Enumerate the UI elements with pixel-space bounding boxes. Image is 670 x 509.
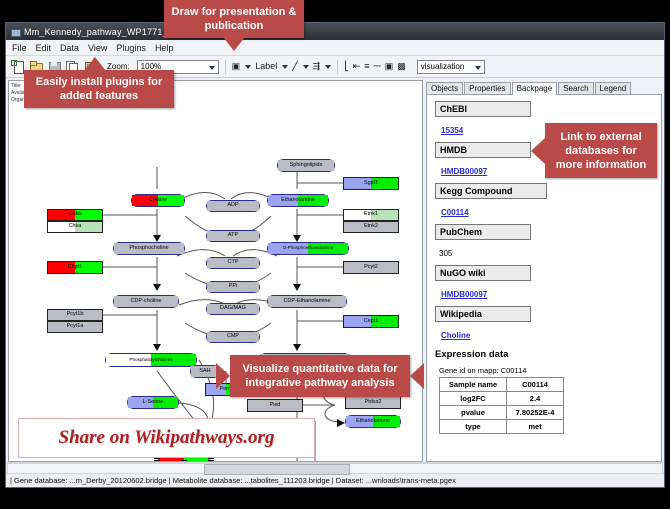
exp-key-sample-name: Sample name — [440, 378, 507, 392]
metabolite-node-atp[interactable]: ATP — [206, 230, 260, 242]
node-label: PPi — [229, 284, 238, 290]
visualization-value: visualization — [421, 62, 465, 71]
exp-key-type: type — [440, 420, 507, 434]
node-label: CMP — [227, 334, 239, 340]
metabolite-node-cdp-choline[interactable]: CDP-choline — [113, 295, 179, 308]
label-tool-label[interactable]: Label — [255, 62, 277, 71]
db-header-pubchem: PubChem — [435, 224, 531, 240]
gene-node-chka[interactable]: Chka — [47, 221, 103, 233]
exp-val-type: met — [507, 420, 564, 434]
gene-node-pisd[interactable]: Pisd — [247, 399, 303, 412]
node-label: Ethanolamine — [281, 198, 315, 204]
gene-node-pcyt2[interactable]: Pcyt2 — [343, 261, 399, 274]
expression-table: Sample name C00114 log2FC 2.4 pvalue 7.8… — [439, 377, 564, 434]
node-label: Phosphocholine — [129, 246, 168, 252]
table-row: log2FC 2.4 — [440, 392, 564, 406]
new-file-icon[interactable] — [11, 60, 25, 74]
metabolite-node-l-serine-left[interactable]: L-Serine — [127, 396, 179, 409]
common-width-tool-icon[interactable]: ▣ — [385, 62, 394, 71]
gene-node-etnk2[interactable]: Etnk2 — [343, 221, 399, 233]
metabolite-node-sphingolipids[interactable]: Sphingolipids — [277, 159, 335, 172]
pathway-canvas[interactable]: Title: Available Organism — [8, 80, 423, 462]
node-label: Ethanolamine — [356, 419, 390, 425]
chevron-down-icon[interactable] — [303, 65, 309, 69]
gene-node-pcyt1a[interactable]: Pcyt1a — [47, 321, 103, 333]
db-link-kegg[interactable]: C00114 — [441, 208, 469, 217]
db-header-chebi: ChEBI — [435, 101, 531, 117]
stack-vertical-tool-icon[interactable]: ≡ — [364, 62, 369, 71]
metabolite-node-ctp[interactable]: CTP — [206, 257, 260, 269]
status-text: | Gene database: ...m_Derby_20120602.bri… — [10, 476, 456, 485]
node-label: Pcyt1b — [67, 312, 84, 318]
table-row: pvalue 7.80252E-4 — [440, 406, 564, 420]
node-label: Pcyt1a — [67, 324, 84, 330]
metabolite-node-o-phosphoethanolamine[interactable]: O-Phosphoethanolamine — [267, 242, 349, 255]
plugins-callout: Easily install plugins for added feature… — [24, 70, 174, 108]
chevron-down-icon[interactable] — [245, 65, 251, 69]
node-label: CTP — [228, 260, 239, 266]
table-row: Sample name C00114 — [440, 378, 564, 392]
db-link-nugo[interactable]: HMDB00097 — [441, 290, 487, 299]
scroll-trough[interactable] — [7, 463, 663, 474]
share-callout: Share on Wikipathways.org — [18, 418, 315, 458]
horizontal-scrollbar[interactable] — [6, 462, 664, 473]
chevron-down-icon[interactable] — [282, 65, 288, 69]
menu-item-file[interactable]: File — [12, 43, 27, 53]
toolbar-separator — [225, 60, 226, 74]
app-icon — [10, 27, 20, 37]
node-label: Sphingolipids — [290, 163, 323, 169]
tab-legend[interactable]: Legend — [595, 82, 632, 94]
db-header-wikipedia: Wikipedia — [435, 306, 531, 322]
node-label: L-Serine — [143, 400, 164, 406]
metabolite-node-ppi[interactable]: PPi — [206, 281, 260, 293]
node-label: CDP-Ethanolamine — [283, 299, 330, 305]
node-label: Phosphatidylcholines — [129, 358, 172, 363]
menu-item-help[interactable]: Help — [155, 43, 174, 53]
exp-val-pvalue: 7.80252E-4 — [507, 406, 564, 420]
distribute-tool-icon[interactable]: ⎓ — [374, 62, 381, 71]
node-label: Chpt1 — [68, 265, 83, 271]
visualize-callout: Visualize quantitative data for integrat… — [230, 355, 410, 397]
gene-node-ptdss2[interactable]: Ptdss2 — [345, 396, 401, 409]
toolbar-separator — [337, 60, 338, 74]
scroll-thumb[interactable] — [204, 464, 350, 475]
gene-node-pcyt1b[interactable]: Pcyt1b — [47, 309, 103, 321]
metabolite-node-choline-top[interactable]: Choline — [131, 194, 185, 207]
chevron-down-icon — [209, 66, 215, 70]
visualization-combo[interactable]: visualization — [417, 60, 485, 74]
metabolite-node-ethanolamine-right[interactable]: Ethanolamine — [345, 415, 401, 428]
menu-item-plugins[interactable]: Plugins — [116, 43, 146, 53]
table-row: type met — [440, 420, 564, 434]
db-link-chebi[interactable]: 15354 — [441, 126, 463, 135]
exp-val-log2fc: 2.4 — [507, 392, 564, 406]
node-label: Etnk1 — [364, 212, 378, 218]
expression-data-title: Expression data — [435, 349, 653, 360]
title-bar: Mm_Kennedy_pathway_WP1771_45176.gpml — [6, 23, 664, 40]
metabolite-node-cmp[interactable]: CMP — [206, 331, 260, 343]
db-link-hmdb[interactable]: HMDB00097 — [441, 167, 487, 176]
db-header-kegg: Kegg Compound — [435, 183, 547, 199]
visualize-callout-pointer — [216, 363, 230, 389]
node-label: Sgpl1 — [364, 181, 378, 187]
metabolite-node-ethanolamine[interactable]: Ethanolamine — [267, 194, 329, 207]
menu-item-view[interactable]: View — [88, 43, 107, 53]
metabolite-node-cdp-ethanolamine[interactable]: CDP-Ethanolamine — [267, 295, 347, 308]
node-label: Chkb — [69, 212, 82, 218]
metabolite-node-adp[interactable]: ADP — [206, 200, 260, 212]
node-label: Cept1 — [364, 319, 379, 325]
db-value-pubchem: 305 — [439, 249, 452, 258]
node-label: Pcyt2 — [364, 265, 378, 271]
metabolite-node-phosphocholine[interactable]: Phosphocholine — [113, 242, 185, 255]
node-label: Ptdss2 — [365, 400, 382, 406]
node-label: Choline — [149, 198, 168, 204]
node-label: ATP — [228, 233, 238, 239]
share-callout-text: Share on Wikipathways.org — [59, 427, 275, 449]
chevron-down-icon[interactable] — [325, 65, 331, 69]
gene-node-sgpl1[interactable]: Sgpl1 — [343, 177, 399, 190]
menu-item-data[interactable]: Data — [60, 43, 79, 53]
anchor-tool-icon[interactable]: ⇶ — [313, 62, 321, 71]
node-label: SAH — [199, 369, 210, 375]
gene-node-cept1[interactable]: Cept1 — [343, 315, 399, 328]
links-callout-pointer — [531, 138, 545, 164]
metabolite-node-phosphatidylcholines[interactable]: Phosphatidylcholines — [105, 353, 197, 367]
node-label: Pisd — [270, 403, 281, 409]
status-bar: | Gene database: ...m_Derby_20120602.bri… — [6, 473, 664, 487]
db-header-nugo: NuGO wiki — [435, 265, 531, 281]
node-label: Chka — [69, 224, 82, 230]
menu-item-edit[interactable]: Edit — [36, 43, 52, 53]
tab-properties[interactable]: Properties — [464, 82, 510, 94]
tab-objects[interactable]: Objects — [426, 82, 463, 94]
node-label: Etnk2 — [364, 224, 378, 230]
gene-node-chkb[interactable]: Chkb — [47, 209, 103, 221]
bring-front-tool-icon[interactable]: ▩ — [397, 62, 406, 71]
side-tabs: Objects Properties Backpage Search Legen… — [426, 80, 662, 95]
align-left-tool-icon[interactable]: ⇤ — [353, 62, 361, 71]
plugins-callout-pointer — [84, 57, 106, 71]
exp-key-pvalue: pvalue — [440, 406, 507, 420]
line-tool-icon[interactable]: ╱ — [292, 62, 297, 71]
node-label: O-Phosphoethanolamine — [283, 246, 334, 251]
align-top-tool-icon[interactable]: ⎣ — [344, 62, 349, 71]
tab-backpage[interactable]: Backpage — [512, 82, 558, 95]
db-link-wikipedia[interactable]: Choline — [441, 331, 470, 340]
node-label: ADP — [227, 203, 238, 209]
draw-callout-pointer — [223, 37, 245, 51]
node-label: CDP-choline — [131, 299, 162, 305]
metabolite-node-dag-mag[interactable]: DAG/MAG — [206, 303, 260, 315]
exp-val-sample-name: C00114 — [507, 378, 564, 392]
visualize-callout-pointer-right — [410, 363, 424, 389]
draw-callout: Draw for presentation & publication — [164, 0, 304, 38]
gene-node-chpt1[interactable]: Chpt1 — [47, 261, 103, 274]
node-label: DAG/MAG — [220, 306, 246, 312]
exp-key-log2fc: log2FC — [440, 392, 507, 406]
chevron-down-icon — [475, 66, 481, 70]
menu-bar: File Edit Data View Plugins Help — [6, 40, 664, 56]
gene-node-etnk1[interactable]: Etnk1 — [343, 209, 399, 221]
db-header-hmdb: HMDB — [435, 142, 531, 158]
links-callout: Link to external databases for more info… — [545, 123, 657, 178]
gene-id-line: Gene id on mapp: C00114 — [439, 366, 653, 375]
tab-search[interactable]: Search — [558, 82, 593, 94]
data-node-tool-icon[interactable]: ▣ — [232, 62, 241, 71]
